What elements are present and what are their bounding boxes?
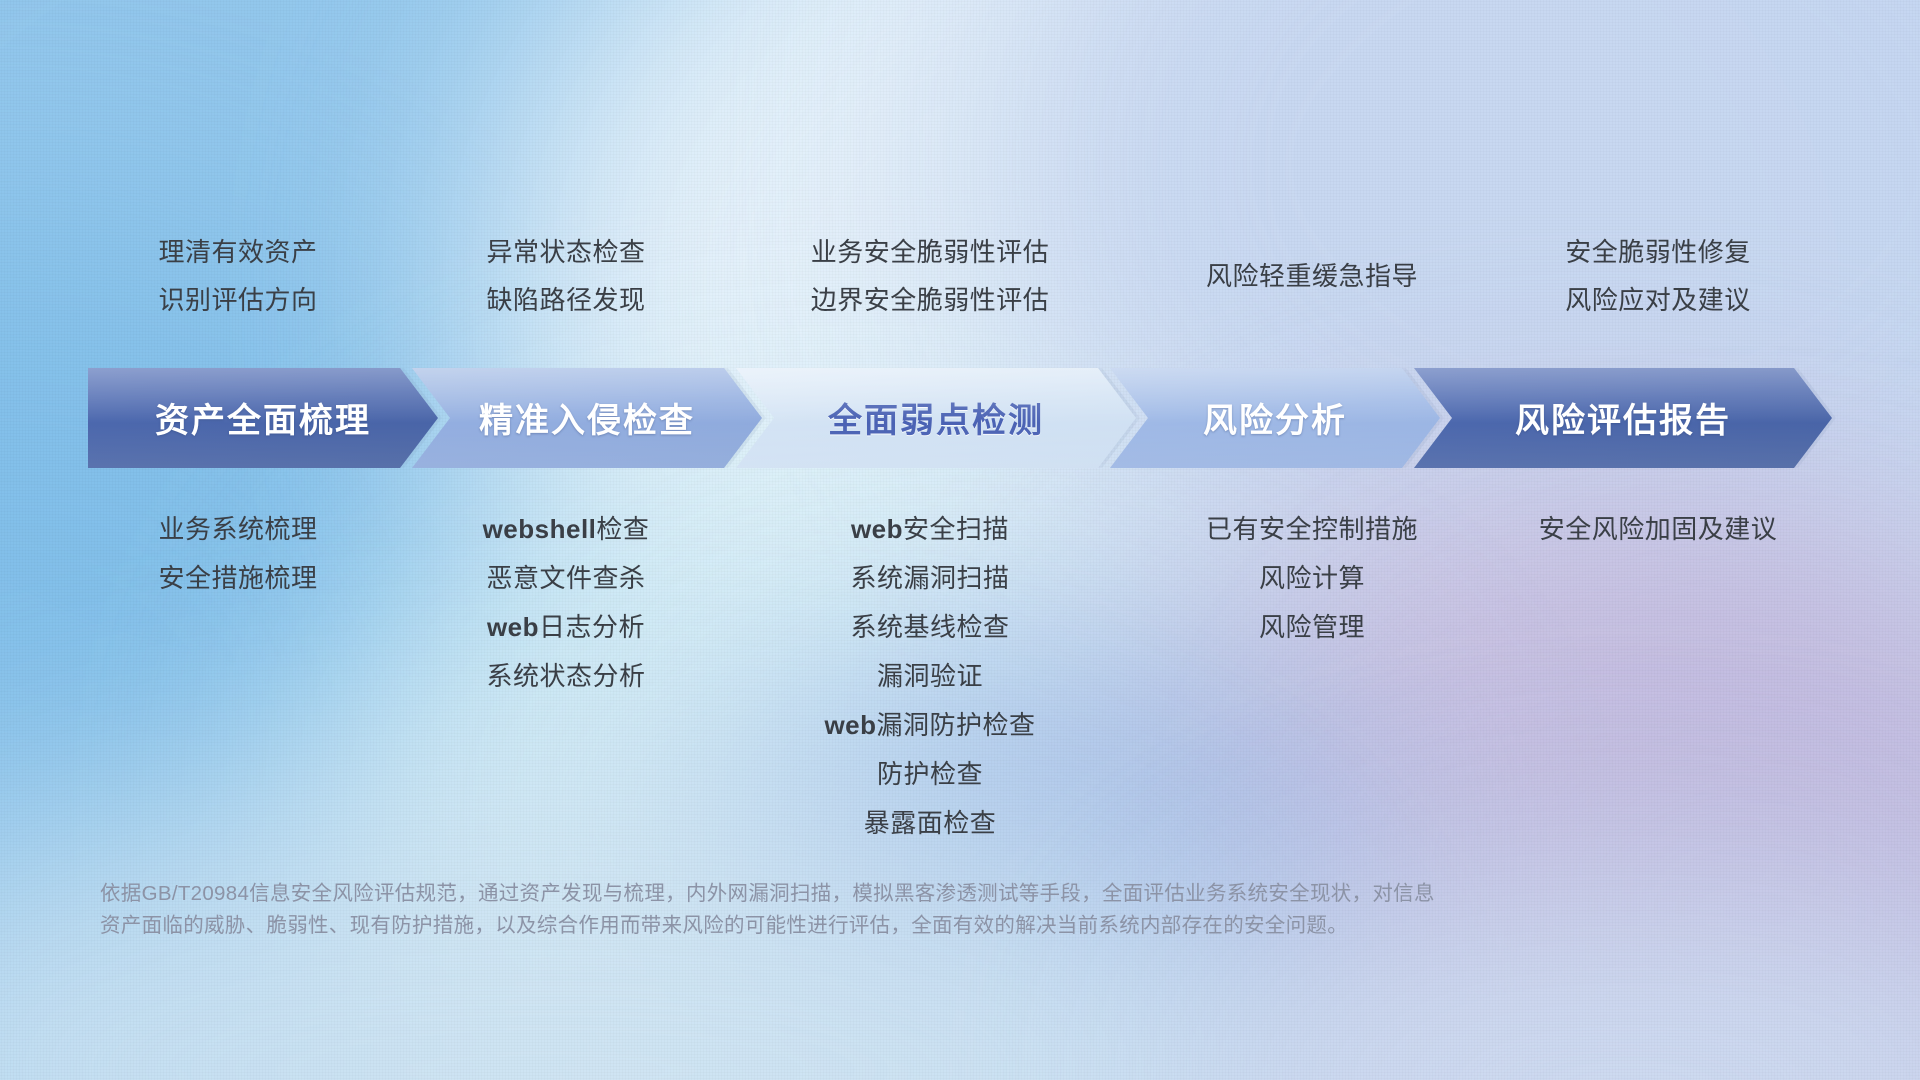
stage-bottom-item-text: 漏洞验证 xyxy=(877,661,983,691)
stage-bottom-list-5: 安全风险加固及建议 xyxy=(1448,505,1868,554)
stage-bottom-item-text: 防护检查 xyxy=(877,759,983,789)
stage-bottom-item-text: 业务系统梳理 xyxy=(158,514,317,544)
footer-line-1: 依据GB/T20984信息安全风险评估规范，通过资产发现与梳理，内外网漏洞扫描，… xyxy=(100,878,1660,910)
stage-top-list-5: 安全脆弱性修复风险应对及建议 xyxy=(1448,228,1868,324)
stage-arrow-5[interactable]: 风险评估报告 xyxy=(1414,368,1832,468)
stage-bottom-item: 暴露面检查 xyxy=(720,799,1140,848)
stage-top-item: 异常状态检查 xyxy=(356,228,776,276)
stage-arrow-band: 资产全面梳理精准入侵检查全面弱点检测风险分析风险评估报告 xyxy=(0,368,1920,468)
footer-line-2: 资产面临的威胁、脆弱性、现有防护措施，以及综合作用而带来风险的可能性进行评估，全… xyxy=(100,910,1660,942)
stage-bottom-item: web日志分析 xyxy=(356,603,776,652)
stage-bottom-item: web漏洞防护检查 xyxy=(720,701,1140,750)
stage-arrow-2[interactable]: 精准入侵检查 xyxy=(412,368,762,468)
stage-arrow-4[interactable]: 风险分析 xyxy=(1110,368,1440,468)
stage-bottom-item: 风险计算 xyxy=(1102,554,1522,603)
stage-bottom-item-prefix: webshell xyxy=(483,514,597,544)
stage-bottom-item: 系统状态分析 xyxy=(356,652,776,701)
stage-arrow-label-3: 全面弱点检测 xyxy=(828,393,1044,442)
stage-arrow-label-4: 风险分析 xyxy=(1203,393,1347,442)
stage-top-item: 缺陷路径发现 xyxy=(356,276,776,324)
stage-bottom-list-3: web安全扫描系统漏洞扫描系统基线检查漏洞验证web漏洞防护检查防护检查暴露面检… xyxy=(720,505,1140,848)
stage-bottom-item-text: 风险管理 xyxy=(1259,612,1365,642)
stage-arrow-1[interactable]: 资产全面梳理 xyxy=(88,368,438,468)
stage-bottom-item: 安全风险加固及建议 xyxy=(1448,505,1868,554)
stage-bottom-item-text: 安全扫描 xyxy=(903,514,1009,544)
stage-top-list-2: 异常状态检查缺陷路径发现 xyxy=(356,228,776,324)
stage-top-item: 业务安全脆弱性评估 xyxy=(720,228,1140,276)
stage-top-item: 风险应对及建议 xyxy=(1448,276,1868,324)
stage-bottom-item-text: 漏洞防护检查 xyxy=(877,710,1036,740)
stage-bottom-item-text: 风险计算 xyxy=(1259,563,1365,593)
stage-bottom-item-text: 日志分析 xyxy=(539,612,645,642)
stage-bottom-item-text: 安全措施梳理 xyxy=(158,563,317,593)
stage-bottom-item: 恶意文件查杀 xyxy=(356,554,776,603)
stage-bottom-item: 系统漏洞扫描 xyxy=(720,554,1140,603)
stage-arrow-label-2: 精准入侵检查 xyxy=(479,393,695,442)
stage-bottom-item-prefix: web xyxy=(487,612,539,642)
stage-bottom-item: 风险管理 xyxy=(1102,603,1522,652)
stage-arrow-label-5: 风险评估报告 xyxy=(1515,393,1731,442)
stage-bottom-list-2: webshell检查恶意文件查杀web日志分析系统状态分析 xyxy=(356,505,776,701)
stage-top-item: 安全脆弱性修复 xyxy=(1448,228,1868,276)
stage-bottom-item-text: 恶意文件查杀 xyxy=(486,563,645,593)
stage-bottom-item-prefix: web xyxy=(851,514,903,544)
stage-bottom-item: web安全扫描 xyxy=(720,505,1140,554)
stage-bottom-item-text: 检查 xyxy=(596,514,649,544)
stage-arrow-3[interactable]: 全面弱点检测 xyxy=(736,368,1136,468)
stage-bottom-item: 系统基线检查 xyxy=(720,603,1140,652)
process-diagram: 理清有效资产识别评估方向异常状态检查缺陷路径发现业务安全脆弱性评估边界安全脆弱性… xyxy=(0,0,1920,1080)
footer-description: 依据GB/T20984信息安全风险评估规范，通过资产发现与梳理，内外网漏洞扫描，… xyxy=(100,878,1660,942)
stage-bottom-item: webshell检查 xyxy=(356,505,776,554)
stage-bottom-item: 防护检查 xyxy=(720,750,1140,799)
stage-top-item: 边界安全脆弱性评估 xyxy=(720,276,1140,324)
stage-bottom-item-prefix: web xyxy=(824,710,876,740)
stage-bottom-item-text: 系统基线检查 xyxy=(850,612,1009,642)
stage-top-list-3: 业务安全脆弱性评估边界安全脆弱性评估 xyxy=(720,228,1140,324)
stage-bottom-item-text: 暴露面检查 xyxy=(864,808,997,838)
stage-bottom-item: 漏洞验证 xyxy=(720,652,1140,701)
stage-bottom-item-text: 系统漏洞扫描 xyxy=(850,563,1009,593)
stage-bottom-item-text: 已有安全控制措施 xyxy=(1206,514,1418,544)
stage-bottom-item-text: 系统状态分析 xyxy=(486,661,645,691)
stage-bottom-item-text: 安全风险加固及建议 xyxy=(1539,514,1778,544)
stage-arrow-label-1: 资产全面梳理 xyxy=(155,393,371,442)
